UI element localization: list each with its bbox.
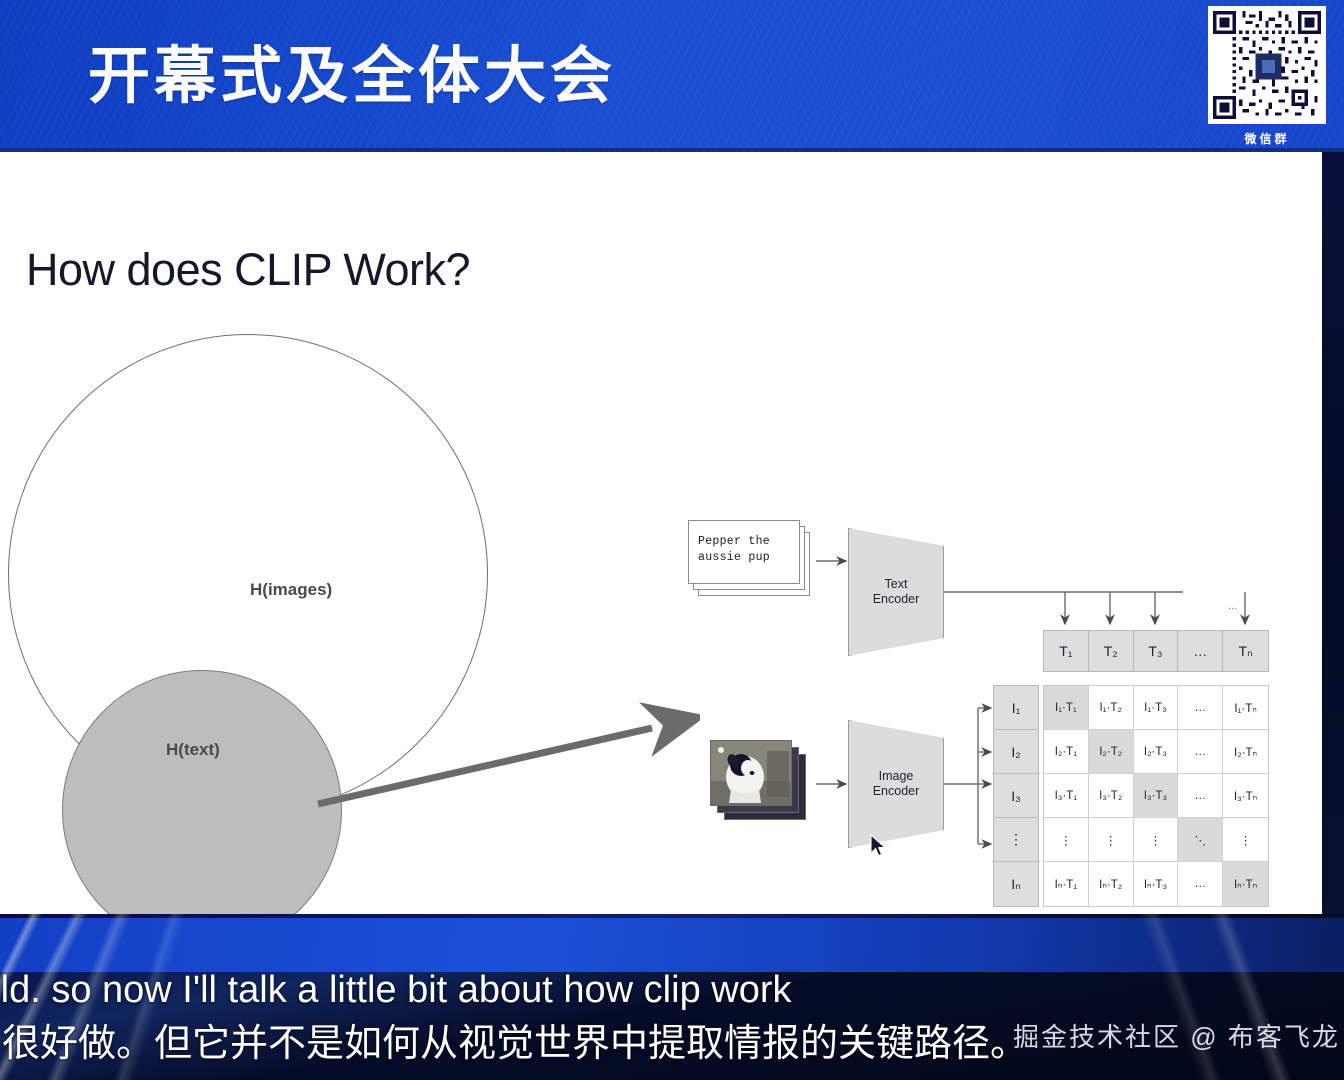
similarity-matrix-cell: Iₙ·T₂: [1089, 862, 1134, 906]
similarity-matrix-cell: ⋮: [1134, 818, 1179, 862]
similarity-matrix-cell: I₁·Tₙ: [1223, 686, 1268, 730]
similarity-matrix-cell: I₃·T₂: [1089, 774, 1134, 818]
image-embedding-cell: ⋮: [994, 818, 1038, 862]
mouse-pointer-icon: [869, 834, 889, 860]
text-card-front: Pepper the aussie pup: [688, 520, 800, 584]
text-encoder-line2: Encoder: [873, 592, 920, 607]
image-encoder-block: Image Encoder: [848, 720, 944, 848]
qr-label: 微信群: [1244, 130, 1289, 147]
text-card-line1: Pepper the: [698, 534, 794, 550]
page-title: 开幕式及全体大会: [88, 44, 616, 110]
text-card-line2: aussie pup: [698, 550, 794, 566]
text-card-text: Pepper the aussie pup: [698, 534, 794, 566]
subtitle-english: rld. so now I'll talk a little bit about…: [0, 968, 988, 1012]
image-encoder-label: Image Encoder: [873, 769, 920, 799]
text-embedding-cell: T₃: [1134, 631, 1179, 671]
similarity-matrix-cell: ⋮: [1223, 818, 1268, 862]
pointer-arrow-icon: [300, 692, 700, 832]
image-embedding-cell: I₂: [994, 730, 1038, 774]
watermark-label: 掘金技术社区 @ 布客飞龙: [1013, 1021, 1340, 1053]
text-embedding-cell: T₁: [1044, 631, 1089, 671]
similarity-matrix-cell: I₁·T₃: [1134, 686, 1179, 730]
similarity-matrix-cell: ⋱: [1178, 818, 1223, 862]
similarity-matrix-cell: Iₙ·T₃: [1134, 862, 1179, 906]
image-embedding-cell: I₃: [994, 774, 1038, 818]
similarity-matrix-cell: ⋮: [1089, 818, 1134, 862]
bottom-banner-highlight: [0, 918, 1344, 972]
similarity-matrix-cell: …: [1178, 730, 1223, 774]
subtitle-chinese: 很好做。但它并不是如何从视觉世界中提取情报的关键路径。: [2, 1022, 1012, 1066]
similarity-matrix: I₁·T₁I₁·T₂I₁·T₃…I₁·TₙI₂·T₁I₂·T₂I₂·T₃…I₂·…: [1043, 685, 1269, 907]
wechat-qr-block[interactable]: 微信群: [1206, 6, 1328, 147]
similarity-matrix-cell: I₂·T₃: [1134, 730, 1179, 774]
similarity-matrix-cell: I₂·T₂: [1089, 730, 1134, 774]
text-encoder-label: Text Encoder: [873, 577, 920, 607]
photo-front-dog: [710, 740, 792, 806]
image-embedding-column: I₁I₂I₃⋮Iₙ: [993, 685, 1039, 907]
text-input-card-stack: Pepper the aussie pup: [688, 520, 814, 600]
text-encoder-block: Text Encoder: [848, 528, 944, 656]
image-input-card-stack: [710, 740, 814, 824]
arrow-ellipsis-label: ...: [1228, 600, 1237, 612]
slide-header-banner: 开幕式及全体大会: [0, 0, 1344, 152]
similarity-matrix-cell: I₂·T₁: [1044, 730, 1089, 774]
text-embedding-row: T₁T₂T₃…Tₙ: [1043, 630, 1269, 672]
text-embedding-cell: T₂: [1089, 631, 1134, 671]
similarity-matrix-cell: …: [1178, 686, 1223, 730]
similarity-matrix-cell: I₁·T₂: [1089, 686, 1134, 730]
slide-content: How does CLIP Work? H(images) H(text): [0, 152, 1322, 914]
similarity-matrix-cell: I₃·T₁: [1044, 774, 1089, 818]
similarity-matrix-cell: …: [1178, 862, 1223, 906]
right-edge-strip: [1322, 152, 1344, 914]
similarity-matrix-cell: ⋮: [1044, 818, 1089, 862]
image-embedding-cell: Iₙ: [994, 862, 1038, 906]
similarity-matrix-cell: …: [1178, 774, 1223, 818]
similarity-matrix-cell: Iₙ·T₁: [1044, 862, 1089, 906]
label-h-text: H(text): [166, 740, 220, 760]
text-embedding-cell: …: [1178, 631, 1223, 671]
text-encoder-line1: Text: [873, 577, 920, 592]
clip-architecture-diagram: Pepper the aussie pup Text Encoder: [688, 368, 1288, 788]
similarity-matrix-cell: I₁·T₁: [1044, 686, 1089, 730]
qr-code-icon: [1208, 6, 1326, 124]
similarity-matrix-cell: Iₙ·Tₙ: [1223, 862, 1268, 906]
image-embedding-cell: I₁: [994, 686, 1038, 730]
image-encoder-line1: Image: [873, 769, 920, 784]
similarity-matrix-cell: I₃·Tₙ: [1223, 774, 1268, 818]
text-embedding-cell: Tₙ: [1223, 631, 1268, 671]
label-h-images: H(images): [250, 580, 332, 600]
similarity-matrix-cell: I₂·Tₙ: [1223, 730, 1268, 774]
screenshot-root: 开幕式及全体大会: [0, 0, 1344, 1080]
image-encoder-line2: Encoder: [873, 784, 920, 799]
similarity-matrix-cell: I₃·T₃: [1134, 774, 1179, 818]
venn-diagram: H(images) H(text): [0, 152, 700, 914]
